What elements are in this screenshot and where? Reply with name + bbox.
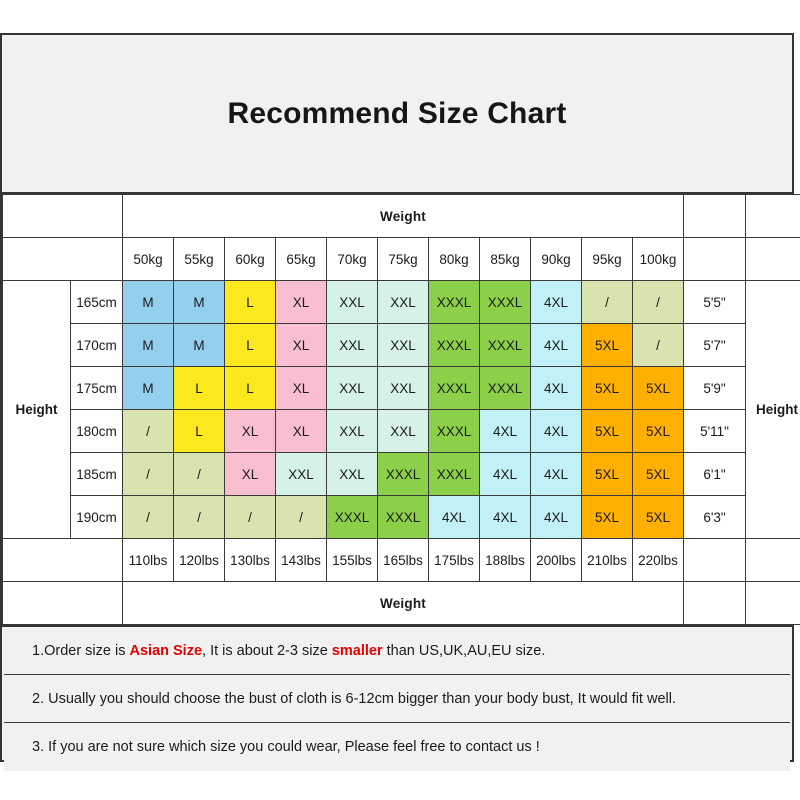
weight-kg-header-0: 50kg — [123, 238, 174, 281]
weight-lbs-header-6: 175lbs — [429, 539, 480, 582]
size-cell-3-8: 4XL — [531, 410, 582, 453]
weight-lbs-header-9: 210lbs — [582, 539, 633, 582]
note-highlight: smaller — [332, 643, 383, 659]
note-text: 2. Usually you should choose the bust of… — [32, 691, 676, 707]
size-cell-0-6: XXXL — [429, 281, 480, 324]
note-highlight: Asian Size — [130, 643, 203, 659]
size-cell-0-10: / — [633, 281, 684, 324]
weight-lbs-header-0: 110lbs — [123, 539, 174, 582]
size-cell-3-5: XXL — [378, 410, 429, 453]
size-cell-3-6: XXXL — [429, 410, 480, 453]
note-2: 2. Usually you should choose the bust of… — [4, 675, 790, 723]
size-cell-3-7: 4XL — [480, 410, 531, 453]
height-ft-header-1: 5'7" — [684, 324, 746, 367]
height-cm-header-0: 165cm — [71, 281, 123, 324]
height-ft-header-4: 6'1" — [684, 453, 746, 496]
weight-footer-row: Weight — [3, 582, 800, 625]
height-label-left: Height — [3, 281, 71, 539]
weight-lbs-header-7: 188lbs — [480, 539, 531, 582]
weight-kg-header-6: 80kg — [429, 238, 480, 281]
weight-kg-header-1: 55kg — [174, 238, 225, 281]
weight-kg-header-8: 90kg — [531, 238, 582, 281]
weight-lbs-header-8: 200lbs — [531, 539, 582, 582]
size-cell-5-2: / — [225, 496, 276, 539]
size-cell-5-3: / — [276, 496, 327, 539]
size-cell-1-9: 5XL — [582, 324, 633, 367]
weight-kg-header-3: 65kg — [276, 238, 327, 281]
size-cell-3-2: XL — [225, 410, 276, 453]
table-row: 170cmMMLXLXXLXXLXXXLXXXL4XL5XL/5'7" — [3, 324, 800, 367]
size-cell-2-4: XXL — [327, 367, 378, 410]
size-cell-1-10: / — [633, 324, 684, 367]
height-cm-header-4: 185cm — [71, 453, 123, 496]
size-cell-5-6: 4XL — [429, 496, 480, 539]
size-cell-3-9: 5XL — [582, 410, 633, 453]
size-chart-page: Recommend Size Chart Weight50kg55kg60kg6… — [0, 0, 800, 800]
size-cell-4-8: 4XL — [531, 453, 582, 496]
size-cell-3-3: XL — [276, 410, 327, 453]
size-cell-4-4: XXL — [327, 453, 378, 496]
size-cell-1-4: XXL — [327, 324, 378, 367]
size-cell-2-8: 4XL — [531, 367, 582, 410]
weight-header-row: Weight — [3, 195, 800, 238]
size-cell-2-3: XL — [276, 367, 327, 410]
blank-footer-right — [684, 582, 746, 625]
size-cell-3-0: / — [123, 410, 174, 453]
size-cell-4-10: 5XL — [633, 453, 684, 496]
weight-lbs-header-2: 130lbs — [225, 539, 276, 582]
height-cm-header-2: 175cm — [71, 367, 123, 410]
blank-kg-far — [746, 238, 800, 281]
blank-footer-far — [746, 582, 800, 625]
size-cell-3-1: L — [174, 410, 225, 453]
weight-kg-header-10: 100kg — [633, 238, 684, 281]
corner-blank-topfar — [746, 195, 800, 238]
note-segment: 1.Order size is — [32, 643, 130, 659]
size-cell-4-3: XXL — [276, 453, 327, 496]
table-row: Height165cmMMLXLXXLXXLXXXLXXXL4XL//5'5"H… — [3, 281, 800, 324]
note-segment: 2. Usually you should choose the bust of… — [32, 691, 676, 707]
note-segment: 3. If you are not sure which size you co… — [32, 739, 540, 755]
size-cell-0-0: M — [123, 281, 174, 324]
size-table-container: Weight50kg55kg60kg65kg70kg75kg80kg85kg90… — [2, 192, 792, 627]
size-cell-1-8: 4XL — [531, 324, 582, 367]
weight-lbs-header-10: 220lbs — [633, 539, 684, 582]
weight-kg-header-9: 95kg — [582, 238, 633, 281]
blank-lbs-right — [684, 539, 746, 582]
weight-lbs-header-5: 165lbs — [378, 539, 429, 582]
size-cell-2-9: 5XL — [582, 367, 633, 410]
size-cell-1-2: L — [225, 324, 276, 367]
size-cell-5-4: XXXL — [327, 496, 378, 539]
height-ft-header-0: 5'5" — [684, 281, 746, 324]
height-ft-header-3: 5'11" — [684, 410, 746, 453]
size-cell-3-10: 5XL — [633, 410, 684, 453]
size-cell-2-2: L — [225, 367, 276, 410]
size-cell-1-1: M — [174, 324, 225, 367]
weight-kg-row: 50kg55kg60kg65kg70kg75kg80kg85kg90kg95kg… — [3, 238, 800, 281]
note-3: 3. If you are not sure which size you co… — [4, 723, 790, 771]
notes-list: 1.Order size is Asian Size, It is about … — [2, 627, 792, 771]
weight-header-bottom: Weight — [123, 582, 684, 625]
blank-lbs-left — [3, 539, 123, 582]
size-table: Weight50kg55kg60kg65kg70kg75kg80kg85kg90… — [2, 194, 800, 625]
height-cm-header-1: 170cm — [71, 324, 123, 367]
height-label-right: Height — [746, 281, 800, 539]
size-cell-5-1: / — [174, 496, 225, 539]
blank-lbs-far — [746, 539, 800, 582]
weight-kg-header-7: 85kg — [480, 238, 531, 281]
weight-lbs-header-1: 120lbs — [174, 539, 225, 582]
size-cell-2-7: XXXL — [480, 367, 531, 410]
note-segment: than US,UK,AU,EU size. — [383, 643, 546, 659]
table-row: 190cm////XXXLXXXL4XL4XL4XL5XL5XL6'3" — [3, 496, 800, 539]
weight-kg-header-2: 60kg — [225, 238, 276, 281]
size-cell-1-7: XXXL — [480, 324, 531, 367]
size-cell-1-0: M — [123, 324, 174, 367]
size-cell-0-1: M — [174, 281, 225, 324]
size-cell-5-7: 4XL — [480, 496, 531, 539]
size-cell-2-5: XXL — [378, 367, 429, 410]
blank-kg-left — [3, 238, 123, 281]
size-cell-2-10: 5XL — [633, 367, 684, 410]
note-text: 1.Order size is Asian Size, It is about … — [32, 643, 545, 659]
size-cell-2-1: L — [174, 367, 225, 410]
size-cell-4-9: 5XL — [582, 453, 633, 496]
size-cell-0-9: / — [582, 281, 633, 324]
size-cell-0-3: XL — [276, 281, 327, 324]
page-title: Recommend Size Chart — [227, 97, 566, 131]
table-row: 175cmMLLXLXXLXXLXXXLXXXL4XL5XL5XL5'9" — [3, 367, 800, 410]
size-cell-0-8: 4XL — [531, 281, 582, 324]
weight-kg-header-4: 70kg — [327, 238, 378, 281]
size-cell-1-3: XL — [276, 324, 327, 367]
height-cm-header-5: 190cm — [71, 496, 123, 539]
corner-blank-topleft — [3, 195, 123, 238]
size-cell-2-6: XXXL — [429, 367, 480, 410]
weight-header-top: Weight — [123, 195, 684, 238]
note-segment: , It is about 2-3 size — [202, 643, 332, 659]
blank-kg-right — [684, 238, 746, 281]
height-cm-header-3: 180cm — [71, 410, 123, 453]
size-cell-4-0: / — [123, 453, 174, 496]
note-1: 1.Order size is Asian Size, It is about … — [4, 627, 790, 675]
weight-lbs-header-3: 143lbs — [276, 539, 327, 582]
size-cell-5-5: XXXL — [378, 496, 429, 539]
height-ft-header-2: 5'9" — [684, 367, 746, 410]
title-area: Recommend Size Chart — [2, 35, 792, 192]
table-row: 185cm//XLXXLXXLXXXLXXXL4XL4XL5XL5XL6'1" — [3, 453, 800, 496]
size-cell-5-10: 5XL — [633, 496, 684, 539]
chart-card: Recommend Size Chart Weight50kg55kg60kg6… — [0, 33, 794, 762]
size-cell-4-1: / — [174, 453, 225, 496]
size-cell-3-4: XXL — [327, 410, 378, 453]
blank-footer-left — [3, 582, 123, 625]
size-cell-2-0: M — [123, 367, 174, 410]
size-cell-4-5: XXXL — [378, 453, 429, 496]
table-row: 180cm/LXLXLXXLXXLXXXL4XL4XL5XL5XL5'11" — [3, 410, 800, 453]
size-cell-0-7: XXXL — [480, 281, 531, 324]
weight-lbs-row: 110lbs120lbs130lbs143lbs155lbs165lbs175l… — [3, 539, 800, 582]
size-cell-5-8: 4XL — [531, 496, 582, 539]
size-cell-4-7: 4XL — [480, 453, 531, 496]
height-ft-header-5: 6'3" — [684, 496, 746, 539]
size-cell-5-0: / — [123, 496, 174, 539]
note-text: 3. If you are not sure which size you co… — [32, 739, 540, 755]
size-cell-4-2: XL — [225, 453, 276, 496]
size-cell-1-5: XXL — [378, 324, 429, 367]
weight-lbs-header-4: 155lbs — [327, 539, 378, 582]
size-cell-0-2: L — [225, 281, 276, 324]
corner-blank-topright — [684, 195, 746, 238]
size-cell-1-6: XXXL — [429, 324, 480, 367]
size-cell-0-5: XXL — [378, 281, 429, 324]
size-cell-0-4: XXL — [327, 281, 378, 324]
size-cell-5-9: 5XL — [582, 496, 633, 539]
size-cell-4-6: XXXL — [429, 453, 480, 496]
weight-kg-header-5: 75kg — [378, 238, 429, 281]
